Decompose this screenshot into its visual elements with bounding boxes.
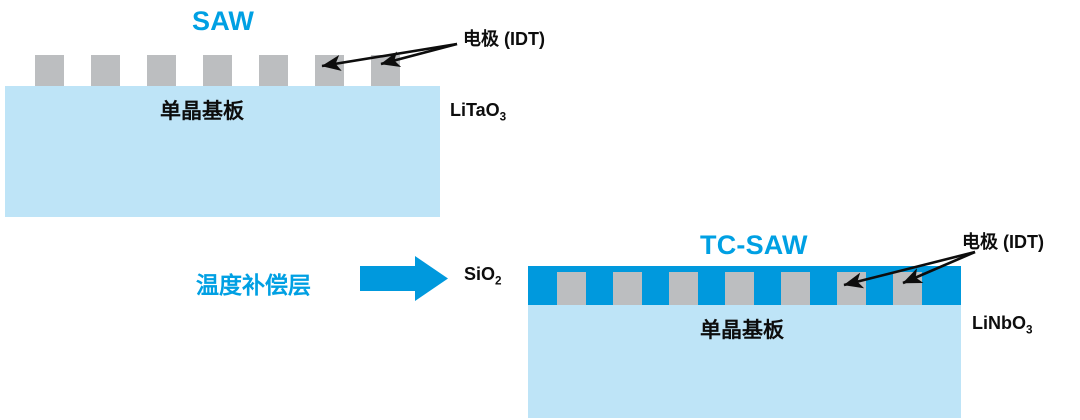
annotation-arrows-layer <box>0 0 1080 420</box>
diagram-canvas: SAW 单晶基板 LiTaO3 电极 (IDT) 温度补偿层 SiO2 TC-S… <box>0 0 1080 420</box>
transition-right-arrow-icon <box>360 256 448 301</box>
